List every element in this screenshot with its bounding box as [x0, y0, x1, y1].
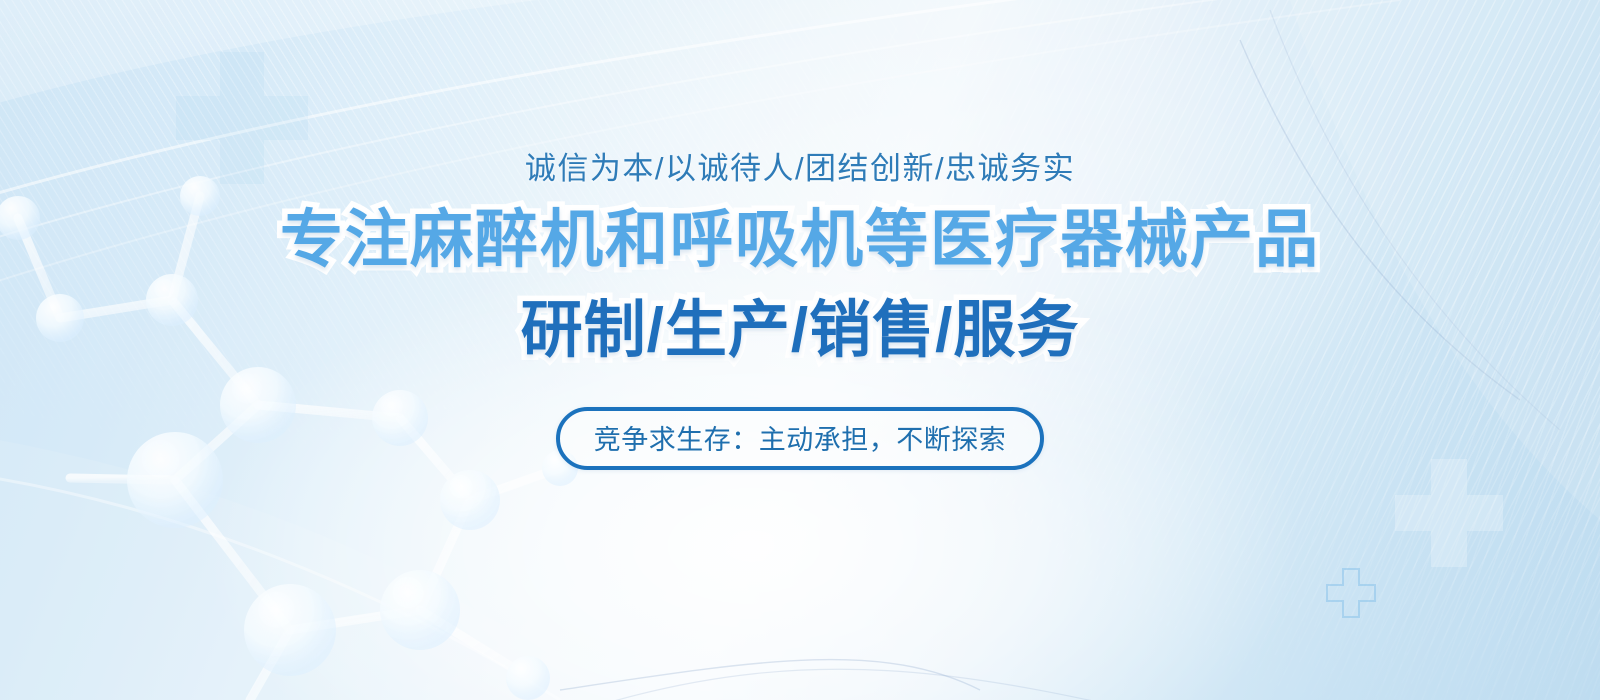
banner-headline-line-1: 专注麻醉机和呼吸机等医疗器械产品: [280, 209, 1320, 272]
banner-headline-line-2: 研制/生产/销售/服务: [521, 300, 1080, 362]
banner-content: 诚信为本/以诚待人/团结创新/忠诚务实 专注麻醉机和呼吸机等医疗器械产品 研制/…: [0, 0, 1600, 700]
banner-tagline: 诚信为本/以诚待人/团结创新/忠诚务实: [525, 143, 1075, 188]
banner-slogan-badge: 竞争求生存：主动承担，不断探索: [556, 407, 1045, 470]
promotional-banner: 诚信为本/以诚待人/团结创新/忠诚务实 专注麻醉机和呼吸机等医疗器械产品 研制/…: [0, 0, 1600, 700]
